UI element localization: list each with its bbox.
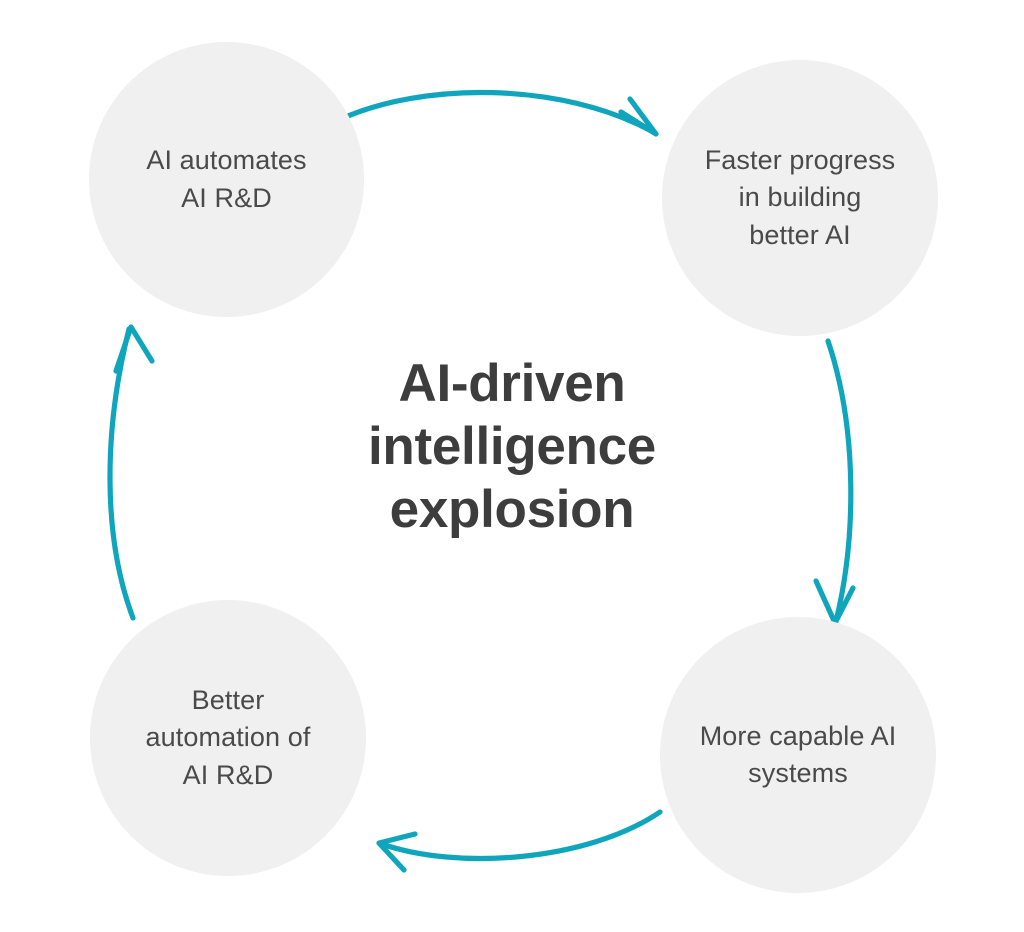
node-ai-automates-ai-rd[interactable]: AI automates AI R&D [89, 42, 364, 317]
node-more-capable-ai-systems[interactable]: More capable AI systems [660, 617, 936, 893]
node-label: Faster progress in building better AI [687, 142, 914, 254]
diagram-canvas: AI automates AI R&D Faster progress in b… [0, 0, 1024, 932]
arrow-right [816, 341, 853, 623]
node-label: AI automates AI R&D [128, 142, 324, 217]
arrow-bottom [379, 812, 660, 870]
diagram-title: AI-driven intelligence explosion [282, 352, 742, 541]
node-better-automation[interactable]: Better automation of AI R&D [90, 600, 366, 876]
arrow-top [341, 92, 656, 134]
arrow-left [110, 327, 152, 618]
node-faster-progress[interactable]: Faster progress in building better AI [662, 60, 938, 336]
node-label: More capable AI systems [682, 718, 915, 793]
node-label: Better automation of AI R&D [128, 682, 329, 794]
